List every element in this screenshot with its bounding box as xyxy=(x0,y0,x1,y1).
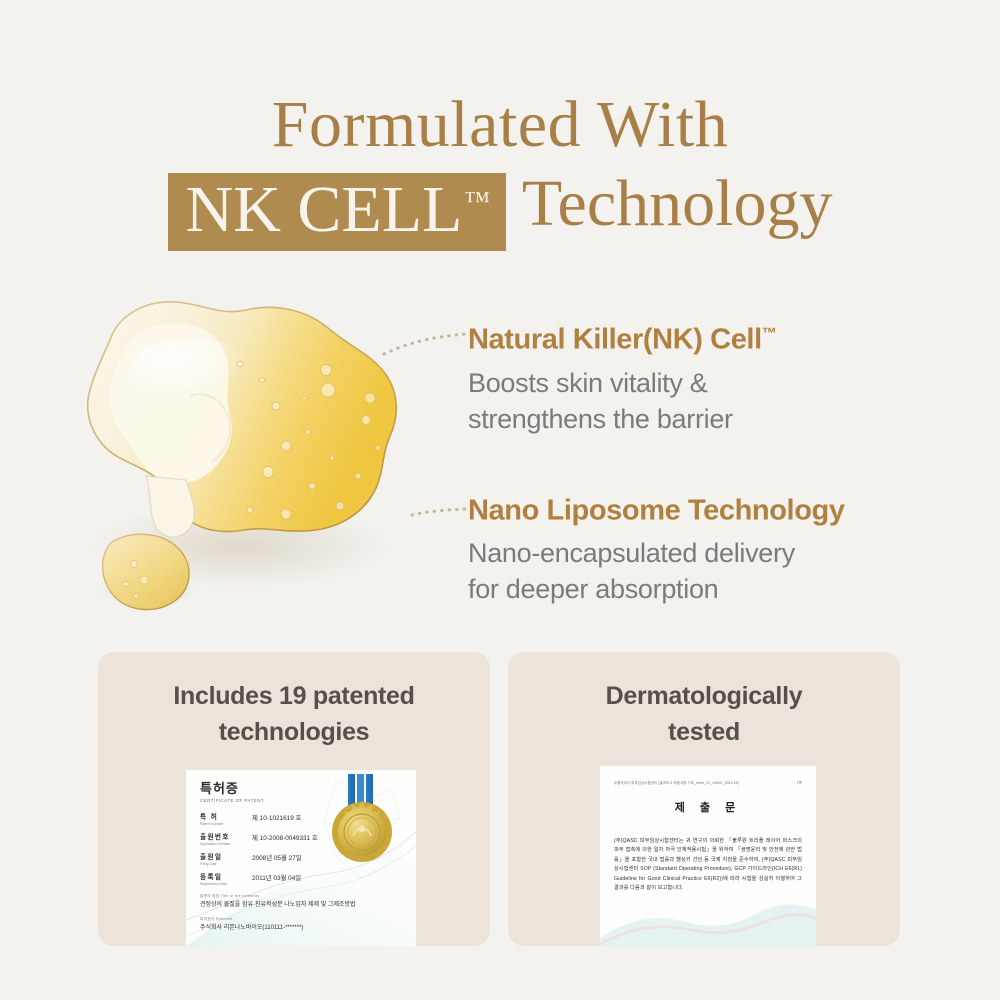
gel-droplet xyxy=(103,534,189,609)
card-title-dermatology: Dermatologically tested xyxy=(508,678,900,750)
feature-item-nk-cell: Natural Killer(NK) Cell™ Boosts skin vit… xyxy=(468,316,938,437)
report-body: (주)QASC 피부임상시험센터는 귀 연구의 의뢰한 「불루원 트리플 레이어… xyxy=(614,837,802,893)
card-title-line-1: Dermatologically xyxy=(508,678,900,714)
feature-desc-line-2: for deeper absorption xyxy=(468,571,938,607)
dermatology-report-document: 유행지아이 피부임상시험센터 (결과보고 제출서류 기초_derm_01_v00… xyxy=(600,766,816,946)
nk-cell-badge: NK CELL™ xyxy=(168,173,506,251)
gel-texture-swatch xyxy=(40,280,430,620)
patent-row-label-ko: 출원일 xyxy=(200,854,252,862)
patent-invention-value: 견정상의 물질을 함유·친유적성분 나노입자 제제 및 그제조방법 xyxy=(200,901,404,910)
patent-row-label-en: Filing Date xyxy=(200,862,252,867)
card-title-line-2: technologies xyxy=(98,714,490,750)
trademark-icon: ™ xyxy=(762,325,777,342)
report-header-left: 유행지아이 피부임상시험센터 (결과보고 제출서류 기초_derm_01_v00… xyxy=(614,780,739,785)
patent-invention: 발명의 명칭 Title of the Invention 견정상의 물질을 함… xyxy=(200,894,404,910)
patent-row-value: 2008년 05월 27일 xyxy=(252,854,302,863)
patent-holder-value: 주식회사 리본나노바이오(110111-*******) xyxy=(200,924,404,933)
patent-row-value: 제 10-1021619 호 xyxy=(252,814,301,823)
gel-highlight xyxy=(128,338,252,406)
card-title-line-1: Includes 19 patented xyxy=(98,678,490,714)
patent-row-label-ko: 특 허 xyxy=(200,814,252,822)
patent-row-label-ko: 등록일 xyxy=(200,874,252,882)
patent-certificate-document: 특허증 CERTIFICATE OF PATENT 특 허 Patent Num… xyxy=(186,770,416,946)
report-title: 제 출 문 xyxy=(614,799,802,815)
feature-desc-nano-liposome: Nano-encapsulated delivery for deeper ab… xyxy=(468,535,938,607)
patent-row-label: 출원번호 Application Number xyxy=(200,834,252,847)
trademark-icon: ™ xyxy=(464,188,489,214)
card-patents: Includes 19 patented technologies xyxy=(98,652,490,946)
proof-cards: Includes 19 patented technologies xyxy=(98,652,900,946)
feature-title-nk-cell: Natural Killer(NK) Cell™ xyxy=(468,316,938,358)
patent-row-label-ko: 출원번호 xyxy=(200,834,252,842)
headline-technology-word: Technology xyxy=(522,166,833,242)
patent-row-label-en: Application Number xyxy=(200,842,252,847)
patent-holder: 특허권자 Patentee 주식회사 리본나노바이오(110111-******… xyxy=(200,917,404,933)
feature-list: Natural Killer(NK) Cell™ Boosts skin vit… xyxy=(468,316,938,607)
feature-item-nano-liposome: Nano Liposome Technology Nano-encapsulat… xyxy=(468,487,938,608)
patent-holder-label: 특허권자 Patentee xyxy=(200,917,404,922)
card-title-line-2: tested xyxy=(508,714,900,750)
feature-title-text: Nano Liposome Technology xyxy=(468,494,845,526)
feature-desc-line-2: strengthens the barrier xyxy=(468,401,938,437)
feature-title-text: Natural Killer(NK) Cell xyxy=(468,324,762,356)
feature-desc-line-1: Nano-encapsulated delivery xyxy=(468,535,938,571)
report-header: 유행지아이 피부임상시험센터 (결과보고 제출서류 기초_derm_01_v00… xyxy=(614,780,802,785)
feature-title-nano-liposome: Nano Liposome Technology xyxy=(468,487,938,529)
headline-line-2: NK CELL™ Technology xyxy=(0,166,1000,245)
page-headline: Formulated With NK CELL™ Technology xyxy=(0,88,1000,245)
nk-cell-badge-label: NK CELL xyxy=(186,179,463,241)
patent-row-value: 2011년 03월 04일 xyxy=(252,874,301,883)
report-content: 유행지아이 피부임상시험센터 (결과보고 제출서류 기초_derm_01_v00… xyxy=(600,766,816,946)
patent-row-label: 출원일 Filing Date xyxy=(200,854,252,867)
card-title-patents: Includes 19 patented technologies xyxy=(98,678,490,750)
patent-invention-label: 발명의 명칭 Title of the Invention xyxy=(200,894,404,899)
patent-row-label-en: Registration Date xyxy=(200,882,252,887)
patent-row-label: 특 허 Patent Number xyxy=(200,814,252,827)
feature-desc-nk-cell: Boosts skin vitality & strengthens the b… xyxy=(468,365,938,437)
headline-line-1: Formulated With xyxy=(0,88,1000,162)
gold-patent-seal-icon xyxy=(326,774,400,866)
patent-row-label-en: Patent Number xyxy=(200,822,252,827)
gel-swatch-illustration xyxy=(40,280,430,620)
patent-row-registration-date: 등록일 Registration Date 2011년 03월 04일 xyxy=(200,874,404,887)
patent-row-label: 등록일 Registration Date xyxy=(200,874,252,887)
feature-desc-line-1: Boosts skin vitality & xyxy=(468,365,938,401)
patent-row-value: 제 10-2008-0049331 호 xyxy=(252,834,318,843)
report-header-right: 1쪽 xyxy=(797,780,802,785)
card-dermatology: Dermatologically tested 유행지아이 피부임상시험센터 (… xyxy=(508,652,900,946)
